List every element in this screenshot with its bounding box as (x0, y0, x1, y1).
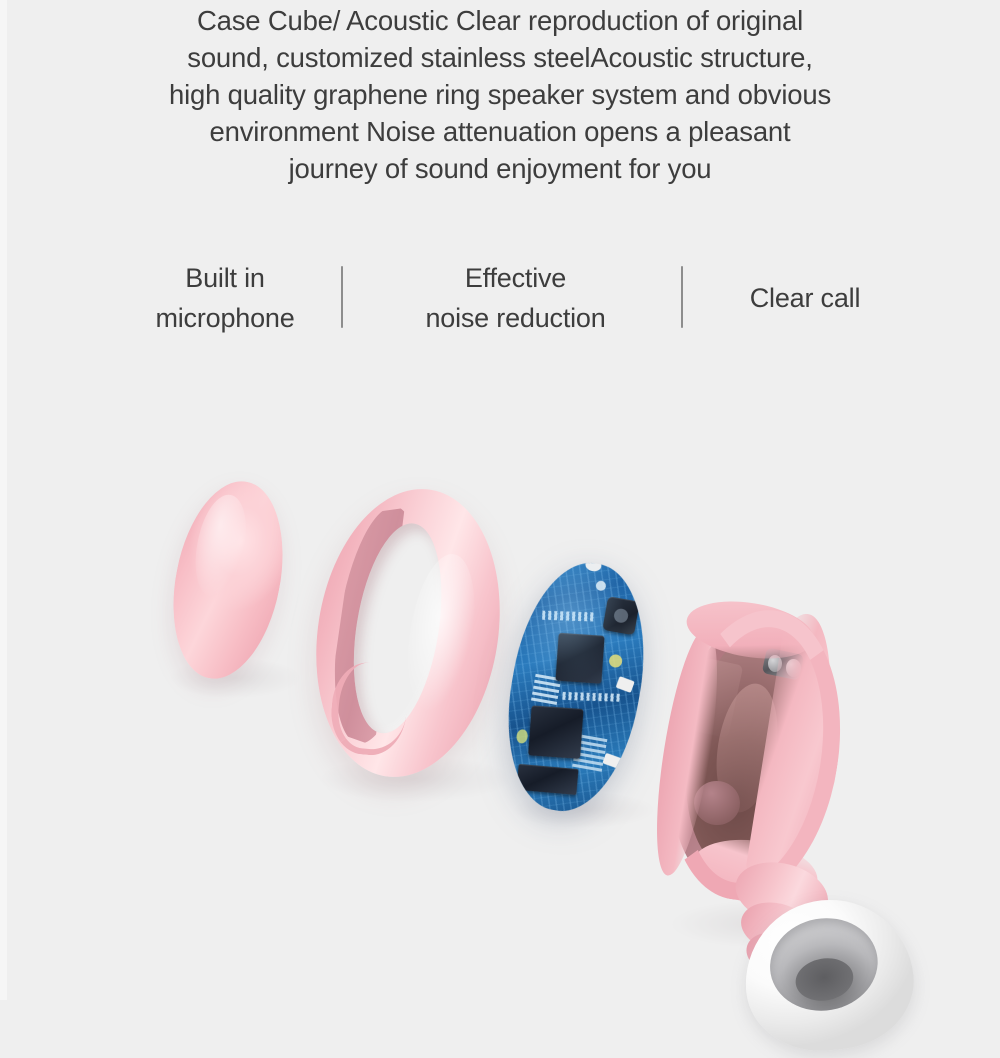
pcb-component (515, 729, 528, 745)
feature-effective-noise-reduction: Effective noise reduction (373, 258, 658, 338)
feature-built-in-microphone: Built in microphone (115, 258, 335, 338)
feature-row: Built in microphone Effective noise redu… (105, 258, 895, 350)
part-back-cap (158, 472, 298, 688)
pcb-notch (616, 676, 635, 693)
pcb-component (595, 580, 607, 592)
pcb-chip (528, 705, 583, 759)
part-circuit-board (491, 553, 660, 821)
pcb-chip (516, 764, 578, 795)
pcb-notch (584, 558, 602, 573)
pcb-component (608, 653, 623, 668)
part-earbud-housing (668, 605, 868, 935)
pcb-pad-row (562, 692, 620, 702)
pcb-pad-row (531, 673, 561, 705)
pcb-component-round (602, 596, 639, 635)
pcb-pad-row (542, 611, 594, 622)
feature-clear-call: Clear call (705, 278, 905, 318)
part-outer-ring (296, 476, 519, 791)
part-ear-tip (738, 892, 921, 1058)
pcb-chip (555, 633, 604, 684)
feature-divider-1 (341, 266, 343, 328)
pcb-substrate (491, 553, 660, 821)
headline-paragraph: Case Cube/ Acoustic Clear reproduction o… (95, 2, 905, 187)
feature-divider-2 (681, 266, 683, 328)
pcb-notch (602, 753, 623, 769)
pcb-pad-row (572, 733, 607, 772)
left-edge-strip (0, 0, 7, 1000)
